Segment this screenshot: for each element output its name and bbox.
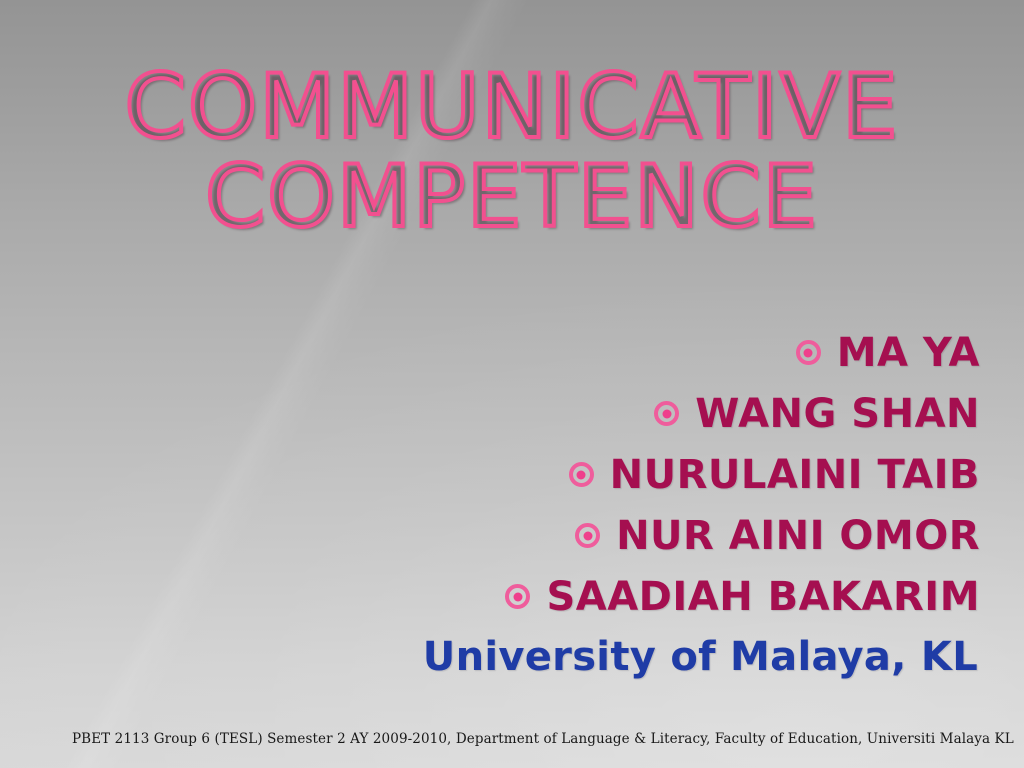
presenter-list: MA YA WANG SHAN NURULAINI TAIB NUR AINI … [320, 322, 980, 688]
list-item: SAADIAH BAKARIM [320, 566, 980, 627]
list-item: NUR AINI OMOR [320, 505, 980, 566]
presentation-slide: COMMUNICATIVE COMPETENCE MA YA WANG SHAN… [0, 0, 1024, 768]
list-item: MA YA [320, 322, 980, 383]
presenter-name: MA YA [837, 330, 980, 376]
list-item: WANG SHAN [320, 383, 980, 444]
presenter-name: NURULAINI TAIB [610, 452, 980, 498]
bullseye-icon [505, 584, 530, 609]
title-line-1: COMMUNICATIVE [0, 62, 1024, 153]
bullseye-icon [575, 523, 600, 548]
presenter-name: SAADIAH BAKARIM [546, 574, 980, 620]
bullseye-icon [796, 340, 821, 365]
slide-footer: PBET 2113 Group 6 (TESL) Semester 2 AY 2… [72, 731, 1014, 747]
presenter-name: NUR AINI OMOR [616, 513, 980, 559]
presenter-name: WANG SHAN [695, 391, 980, 437]
bullseye-icon [654, 401, 679, 426]
title-line-2: COMPETENCE [0, 153, 1024, 242]
list-item: NURULAINI TAIB [320, 444, 980, 505]
slide-title: COMMUNICATIVE COMPETENCE [0, 62, 1024, 241]
bullseye-icon [569, 462, 594, 487]
affiliation-text: University of Malaya, KL [320, 627, 980, 688]
